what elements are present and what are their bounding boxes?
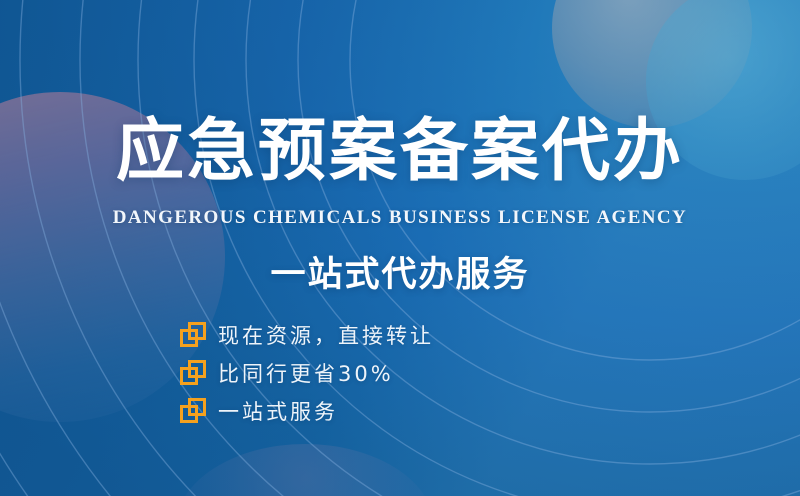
list-item-label: 现在资源，直接转让 [218, 320, 434, 350]
list-item-label: 比同行更省30% [218, 358, 394, 388]
overlapping-squares-icon [180, 398, 206, 424]
list-item: 比同行更省30% [180, 354, 434, 392]
promo-banner: 应急预案备案代办 DANGEROUS CHEMICALS BUSINESS LI… [0, 0, 800, 496]
banner-content: 应急预案备案代办 DANGEROUS CHEMICALS BUSINESS LI… [0, 0, 800, 496]
overlapping-squares-icon [180, 360, 206, 386]
subtitle-english: DANGEROUS CHEMICALS BUSINESS LICENSE AGE… [0, 207, 800, 229]
secondary-headline: 一站式代办服务 [0, 246, 800, 297]
feature-list: 现在资源，直接转让 比同行更省30% 一站式 [180, 316, 434, 430]
list-item: 现在资源，直接转让 [180, 316, 434, 354]
list-item: 一站式服务 [180, 392, 434, 430]
list-item-label: 一站式服务 [218, 396, 338, 426]
page-title: 应急预案备案代办 [0, 118, 800, 186]
overlapping-squares-icon [180, 322, 206, 348]
